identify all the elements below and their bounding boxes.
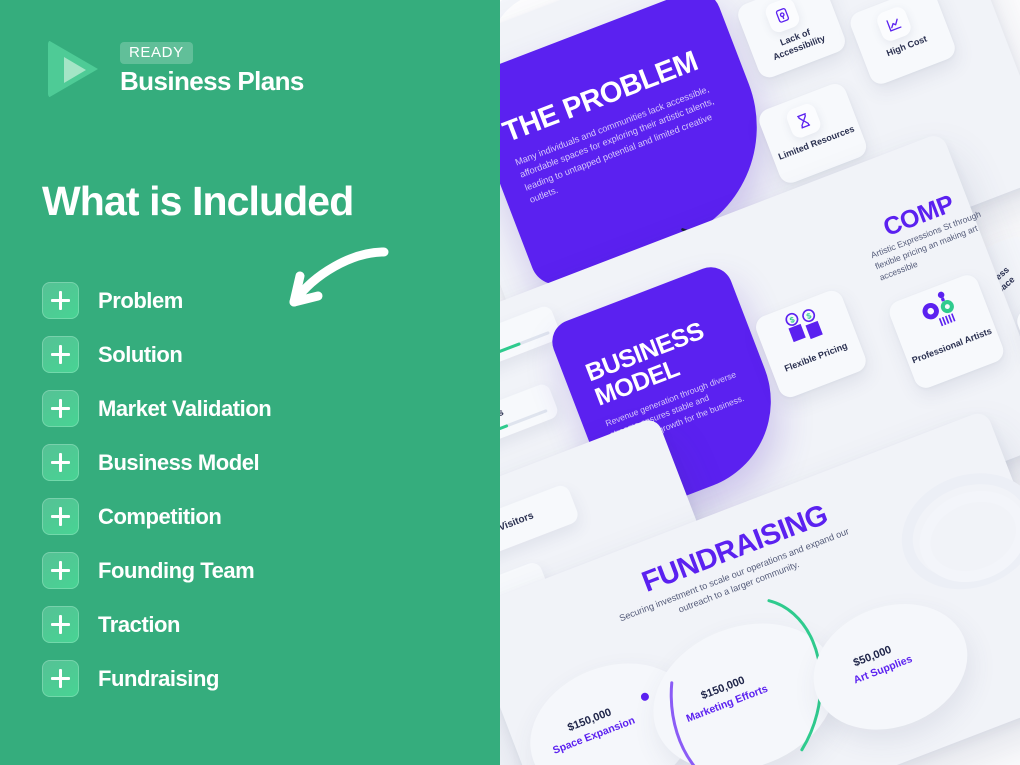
plus-icon [42,444,79,481]
page-title: What is Included [42,180,353,223]
list-item-solution[interactable]: Solution [42,336,271,373]
curved-arrow-down-left-icon [272,240,392,330]
list-item-label: Fundraising [98,666,219,692]
list-item-founding-team[interactable]: Founding Team [42,552,271,589]
problem-card-accessibility-label: Lack of Accessibility [754,18,840,68]
competition-card-flexible-pricing[interactable]: $ $ Flexible Pricing [753,287,870,400]
list-item-fundraising[interactable]: Fundraising [42,660,271,697]
plus-icon [42,390,79,427]
screenshot-stage: THE PROBLEM Many individuals and communi… [0,0,1020,765]
play-triangle-icon [44,38,106,100]
problem-card-high-cost[interactable]: High Cost [847,0,958,87]
ready-badge: READY [120,42,193,64]
hourglass-icon [793,110,814,131]
list-item-business-model[interactable]: Business Model [42,444,271,481]
left-green-panel: READY Business Plans What is Included Pr… [0,0,500,765]
list-item-label: Solution [98,342,182,368]
plus-icon [42,606,79,643]
list-item-label: Founding Team [98,558,254,584]
svg-text:$: $ [805,311,813,321]
problem-card-accessibility[interactable]: Lack of Accessibility [735,0,849,81]
gears-bulb-icon [911,285,965,334]
list-item-label: Market Validation [98,396,271,422]
list-item-market-validation[interactable]: Market Validation [42,390,271,427]
brand-title: Business Plans [120,67,304,96]
plus-icon [42,282,79,319]
hourglass-icon-box [784,101,823,140]
list-item-traction[interactable]: Traction [42,606,271,643]
svg-text:$: $ [788,315,796,325]
list-item-problem[interactable]: Problem [42,282,271,319]
list-item-competition[interactable]: Competition [42,498,271,535]
competition-card-flexible-pricing-label: Flexible Pricing [775,337,857,377]
list-item-label: Competition [98,504,221,530]
plus-icon [42,552,79,589]
chart-up-icon [884,14,905,35]
plus-icon [42,336,79,373]
list-item-label: Traction [98,612,180,638]
included-list: Problem Solution Market Validation Busin… [42,282,271,697]
chart-up-icon-box [875,5,914,44]
list-item-label: Business Model [98,450,259,476]
plus-icon [42,660,79,697]
lock-document-icon [772,5,793,26]
lock-document-icon-box [763,0,802,35]
brand-text: READY Business Plans [120,42,304,96]
brand-block: READY Business Plans [44,38,304,100]
money-bills-icon: $ $ [779,302,829,348]
competition-card-professional-artists[interactable]: Professional Artists [886,272,1007,392]
plus-icon [42,498,79,535]
play-triangle-inner [64,57,86,83]
list-item-label: Problem [98,288,183,314]
